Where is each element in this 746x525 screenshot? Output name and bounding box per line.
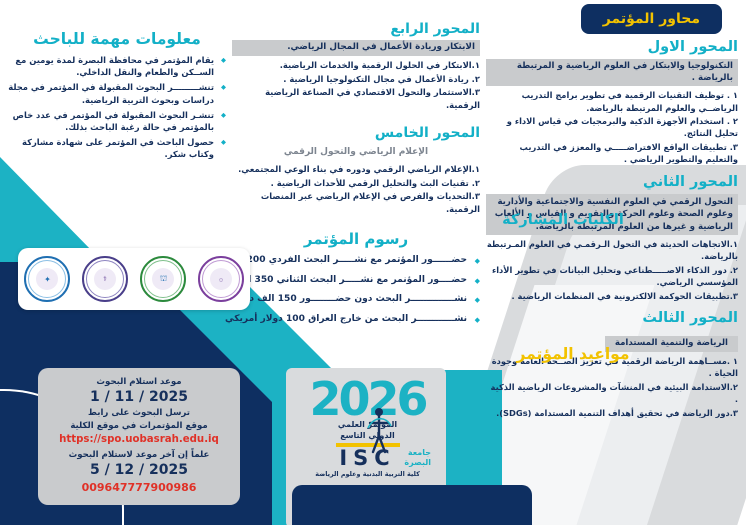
decor-navy-bottom-bar bbox=[292, 485, 532, 525]
axis-1-list: ١ . توظيف التقنيات الرقمية في تطوير برام… bbox=[486, 89, 738, 166]
axes-column-right: المحور الاول التكنولوجيا والابتكار في ال… bbox=[486, 40, 738, 428]
researcher-info-item: تنشـــــــــر البحوث المقبولة في المؤتمر… bbox=[8, 81, 226, 105]
axis-2-item: ١.الاتجاهات الحديثة في التحول الـرقمـي ف… bbox=[486, 238, 738, 263]
fees-section: رسوم المؤتمر حضــــــور المؤتمر مع نشـــ… bbox=[232, 230, 480, 326]
fees-list: حضــــــور المؤتمر مع نشـــــر البحث الف… bbox=[232, 255, 480, 326]
axis-block-2: المحور الثاني التحول الرقمي في العلوم ال… bbox=[486, 175, 738, 302]
fees-item: نشــــــــــــر البحث من خارج العراق 100… bbox=[232, 314, 480, 325]
axis-5-item: ١.الإعلام الرياضي الرقمي ودوره في بناء ا… bbox=[232, 163, 480, 176]
axis-2-title: المحور الثاني bbox=[486, 175, 738, 191]
axis-5-title: المحور الخامس bbox=[232, 126, 480, 141]
decor-teal-wedge-top bbox=[0, 157, 95, 254]
dates-submit-line-1: ترسل البحوث على رابط bbox=[44, 407, 234, 419]
college-emblem-3-icon: ⚕ bbox=[82, 256, 128, 302]
conference-logo: 2026 المؤتمر العلمي الدولي التاسع ISC جا… bbox=[300, 380, 435, 479]
axis-4-item: ١.الابتكار في الحلول الرقمية والخدمات ال… bbox=[232, 59, 480, 72]
fees-item: حضــــور المؤنمر مع نشـــــر البحث الثنا… bbox=[232, 275, 480, 286]
researcher-info-column: معلومات مهمة للباحث يقام المؤتمر في محاف… bbox=[8, 8, 226, 164]
dates-title: مواعيد المؤتمر bbox=[488, 345, 658, 363]
fees-item: نشــــــــــــــر البحث دون حضــــــــور… bbox=[232, 294, 480, 305]
athlete-figure-icon bbox=[366, 406, 392, 460]
axis-block-5: المحور الخامس الإعلام الرياضي والتحول ال… bbox=[232, 126, 480, 216]
axis-3-item: ٣.دور الرياضة في تحقيق أهداف التنمية الم… bbox=[486, 407, 738, 419]
dates-submission-url[interactable]: https://spo.uobasrah.edu.iq bbox=[44, 432, 234, 448]
dates-card: موعد استلام البحوث 1 / 11 / 2025 ترسل ال… bbox=[38, 368, 240, 505]
axis-4-item: ٣.الاستثمار والتحول الاقتصادي في الصناعة… bbox=[232, 86, 480, 111]
axis-block-1: المحور الاول التكنولوجيا والابتكار في ال… bbox=[486, 40, 738, 166]
dates-submit-line-2: موقع المؤتمرات في موقع الكلية bbox=[44, 420, 234, 432]
dates-contact-phone[interactable]: 009647777900986 bbox=[44, 480, 234, 497]
colleges-logo-card: ۞ ⛫ ⚕ ✦ bbox=[18, 248, 250, 310]
axis-4-list: ١.الابتكار في الحلول الرقمية والخدمات ال… bbox=[232, 59, 480, 111]
conference-logo-university-2: البصرة bbox=[404, 458, 431, 468]
fees-title: رسوم المؤتمر bbox=[232, 230, 480, 248]
college-emblem-2-icon: ⛫ bbox=[140, 256, 186, 302]
axis-3-title: المحور الثالث bbox=[486, 311, 738, 327]
conference-logo-faculty: كلية التربية البدنية وعلوم الرياضة bbox=[300, 471, 435, 479]
researcher-info-title: معلومات مهمة للباحث bbox=[8, 30, 226, 48]
axis-2-list: ١.الاتجاهات الحديثة في التحول الـرقمـي ف… bbox=[486, 238, 738, 302]
college-emblem-1-icon: ۞ bbox=[198, 256, 244, 302]
axis-5-item: ٢. تقنيات البث والتحليل الرقمي للأحداث ا… bbox=[232, 177, 480, 190]
axes-column-middle: المحور الرابع الابتكار وريادة الأعمال في… bbox=[232, 22, 480, 334]
conference-axes-badge: محاور المؤتمر bbox=[581, 4, 722, 34]
axis-5-subtitle: الإعلام الرياضي والتحول الرقمي bbox=[232, 144, 480, 160]
axis-1-item: ١ . توظيف التقنيات الرقمية في تطوير برام… bbox=[486, 89, 738, 114]
dates-receipt-label: موعد استلام البحوث bbox=[44, 376, 234, 388]
axis-4-item: ٢. ريادة الأعمال في مجال التكنولوجيا الر… bbox=[232, 73, 480, 86]
axis-1-item: ٣. تطبيقات الواقع الافتراضـــــي والمعزز… bbox=[486, 141, 738, 166]
axis-4-title: المحور الرابع bbox=[232, 22, 480, 37]
researcher-info-item: حصول الباحث في المؤتمر على شهادة مشاركة … bbox=[8, 136, 226, 160]
dates-deadline-date: 5 / 12 / 2025 bbox=[44, 461, 234, 480]
fees-item: حضــــــور المؤتمر مع نشـــــر البحث الف… bbox=[232, 255, 480, 266]
axis-1-subtitle: التكنولوجيا والابتكار في العلوم الرياضية… bbox=[486, 59, 738, 86]
axis-5-item: ٣.التحديات والفرص في الإعلام الرياضي عبر… bbox=[232, 190, 480, 215]
axis-3-item: ٢.الاستدامة البيئية في المنشآت والمشروعا… bbox=[486, 381, 738, 406]
dates-receipt-date: 1 / 11 / 2025 bbox=[44, 388, 234, 407]
axis-1-title: المحور الاول bbox=[486, 40, 738, 56]
researcher-info-list: يقام المؤتمر في محافظة البصرة لمدة يومين… bbox=[8, 54, 226, 161]
axis-block-3: المحور الثالث الرياضة والتنمية المستدامة… bbox=[486, 311, 738, 419]
researcher-info-item: يقام المؤتمر في محافظة البصرة لمدة يومين… bbox=[8, 54, 226, 78]
conference-logo-university-1: جامعة bbox=[404, 448, 431, 458]
axis-2-item: ٣.تطبيقات الحوكمة الالكترونية في المنظما… bbox=[486, 290, 738, 302]
college-emblem-4-icon: ✦ bbox=[24, 256, 70, 302]
axis-1-item: ٢ . استخدام الأجهزة الذكية والبرمجيات في… bbox=[486, 115, 738, 140]
axis-3-list: ١ .مســاهمة الرياضة الرقمية في تعزيز الص… bbox=[486, 355, 738, 419]
axis-4-subtitle: الابتكار وريادة الأعمال في المجال الرياض… bbox=[232, 40, 480, 56]
researcher-info-item: تنشـر البحوث المقبولة في المؤتمر في عدد … bbox=[8, 109, 226, 133]
axis-5-list: ١.الإعلام الرياضي الرقمي ودوره في بناء ا… bbox=[232, 163, 480, 215]
colleges-title: الكليات المشاركة bbox=[488, 212, 638, 228]
conference-logo-university: جامعة البصرة bbox=[404, 448, 431, 467]
axis-2-item: ٢. دور الذكاء الاصـــــطناعي وتحليل البي… bbox=[486, 264, 738, 289]
axis-block-4: المحور الرابع الابتكار وريادة الأعمال في… bbox=[232, 22, 480, 112]
dates-deadline-label: علماً إن آخر موعد لاستلام البحوث bbox=[44, 449, 234, 461]
conference-poster: محاور المؤتمر المحور الاول التكنولوجيا و… bbox=[0, 0, 746, 525]
